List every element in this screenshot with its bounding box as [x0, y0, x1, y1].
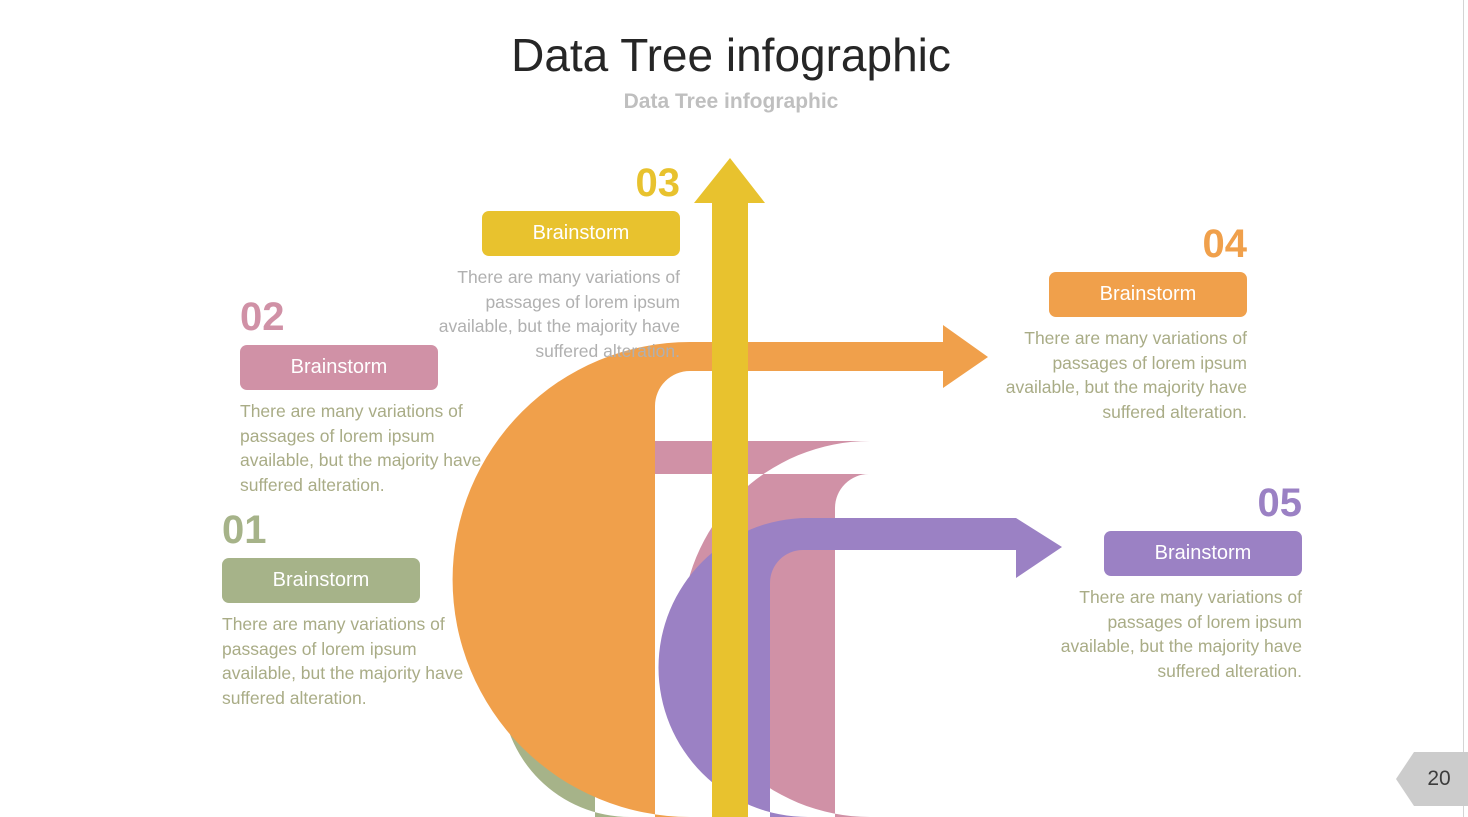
step-body-01: There are many variations of passages of…: [222, 612, 474, 710]
step-number-04: 04: [995, 224, 1247, 264]
ribbon-arrow-diagram: [0, 0, 1468, 817]
step-block-01: 01 Brainstorm There are many variations …: [222, 510, 474, 710]
step-block-03: 03 Brainstorm There are many variations …: [428, 163, 680, 363]
step-number-05: 05: [1050, 483, 1302, 523]
step-chip-01[interactable]: Brainstorm: [222, 558, 420, 603]
step-chip-03[interactable]: Brainstorm: [482, 211, 680, 256]
step-body-05: There are many variations of passages of…: [1050, 585, 1302, 683]
step-body-02: There are many variations of passages of…: [240, 399, 492, 497]
step-body-03: There are many variations of passages of…: [428, 265, 680, 363]
step-chip-05[interactable]: Brainstorm: [1104, 531, 1302, 576]
page-number-text: 20: [1396, 752, 1468, 806]
step-number-03: 03: [428, 163, 680, 203]
step-block-05: 05 Brainstorm There are many variations …: [1050, 483, 1302, 683]
slide-canvas: Data Tree infographic Data Tree infograp…: [0, 0, 1468, 817]
step-number-01: 01: [222, 510, 474, 550]
step-chip-02[interactable]: Brainstorm: [240, 345, 438, 390]
step-body-04: There are many variations of passages of…: [995, 326, 1247, 424]
step-block-04: 04 Brainstorm There are many variations …: [995, 224, 1247, 424]
step-chip-04[interactable]: Brainstorm: [1049, 272, 1247, 317]
page-number-badge: 20: [1396, 752, 1468, 806]
